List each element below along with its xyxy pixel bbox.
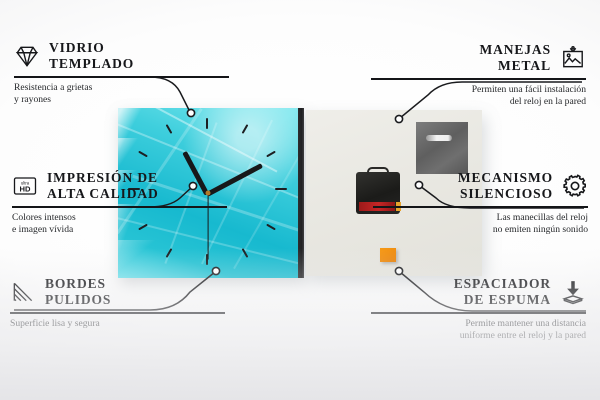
clock-tick [266, 151, 276, 158]
feature-bordes-pulidos[interactable]: BORDES PULIDOS Superficie lisa y segura [10, 276, 225, 330]
clock-tick [166, 124, 173, 134]
clock-tick [138, 151, 148, 158]
feature-description: Las manecillas del reloj no emiten ningú… [373, 212, 588, 238]
feature-title: BORDES PULIDOS [45, 276, 111, 309]
arrow-onto-pad-icon [560, 279, 586, 305]
clock-tick [275, 188, 287, 190]
infographic-canvas: VIDRIO TEMPLADO Resistencia a grietas y … [0, 0, 600, 400]
title-rule [14, 76, 229, 78]
feature-impresion-alta-calidad[interactable]: ultra HD IMPRESIÓN DE ALTA CALIDAD Color… [12, 170, 227, 237]
feature-description: Superficie lisa y segura [10, 318, 225, 331]
feature-title: MANEJAS METAL [479, 42, 551, 75]
clock-tick [166, 248, 173, 258]
title-rule [12, 206, 227, 208]
metal-hanger-plate [416, 122, 468, 174]
feature-manejas-metal[interactable]: MANEJAS METAL Permiten una fácil instala… [371, 42, 586, 109]
svg-text:HD: HD [20, 185, 31, 194]
clock-center-pivot [206, 191, 211, 196]
polished-edge-icon [10, 279, 36, 305]
foam-spacer-pad [380, 248, 396, 262]
wall-frame-hanger-icon [560, 45, 586, 71]
clock-tick [266, 224, 276, 231]
feature-description: Resistencia a grietas y rayones [14, 82, 229, 108]
title-rule [371, 312, 586, 314]
clock-tick [206, 118, 208, 129]
feature-espaciador-espuma[interactable]: ESPACIADOR DE ESPUMA Permite mantener un… [371, 276, 586, 343]
title-rule [373, 206, 588, 208]
title-rule [10, 312, 225, 314]
feature-title: VIDRIO TEMPLADO [49, 40, 134, 73]
feature-title: ESPACIADOR DE ESPUMA [454, 276, 551, 309]
title-rule [371, 78, 586, 80]
feature-mecanismo-silencioso[interactable]: MECANISMO SILENCIOSO Las manecillas del … [373, 170, 588, 237]
ultra-hd-icon: ultra HD [12, 173, 38, 199]
feature-description: Permiten una fácil instalación del reloj… [371, 84, 586, 110]
feature-description: Permite mantener una distancia uniforme … [371, 318, 586, 344]
feature-vidrio-templado[interactable]: VIDRIO TEMPLADO Resistencia a grietas y … [14, 40, 229, 107]
diamond-icon [14, 43, 40, 69]
feature-title: MECANISMO SILENCIOSO [458, 170, 553, 203]
clock-tick [242, 124, 249, 134]
feature-description: Colores intensos e imagen vívida [12, 212, 227, 238]
clock-glass-edge [298, 108, 304, 278]
feature-title: IMPRESIÓN DE ALTA CALIDAD [47, 170, 159, 203]
gear-icon [562, 173, 588, 199]
hanger-slot [426, 135, 452, 141]
